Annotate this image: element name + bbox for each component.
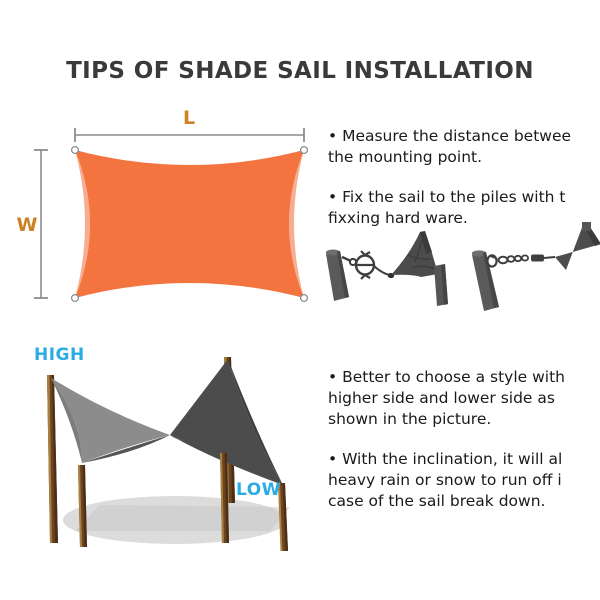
sail-top-tab bbox=[582, 222, 591, 231]
tips-list-lower: • Better to choose a style with higher s… bbox=[328, 367, 600, 567]
grommet-bottom-right bbox=[301, 295, 308, 302]
page-title: TIPS OF SHADE SAIL INSTALLATION bbox=[0, 58, 600, 84]
high-label: HIGH bbox=[34, 345, 85, 365]
turnbuckle-rod bbox=[544, 257, 555, 258]
post-chain-left bbox=[472, 250, 499, 311]
turnbuckle-assembly bbox=[326, 231, 448, 306]
hardware-svg bbox=[320, 222, 600, 327]
tip-line: case of the sail break down. bbox=[328, 491, 600, 512]
tip-line: • Better to choose a style with bbox=[328, 367, 600, 388]
tip-line: • Measure the distance betwee bbox=[328, 126, 600, 147]
tip-line: higher side and lower side as bbox=[328, 388, 600, 409]
sail-dimension-svg: L W bbox=[20, 108, 320, 323]
hardware-illustrations bbox=[320, 222, 600, 327]
turnbuckle-barrel bbox=[531, 255, 544, 262]
turnbuckle-ring bbox=[356, 251, 374, 279]
sail-corner-left bbox=[391, 231, 438, 277]
tip-inclination-runoff: • With the inclination, it will al heavy… bbox=[328, 449, 600, 512]
low-label: LOW bbox=[236, 480, 281, 500]
infographic-page: TIPS OF SHADE SAIL INSTALLATION L W bbox=[0, 0, 600, 600]
tip-line: heavy rain or snow to run off i bbox=[328, 470, 600, 491]
width-label: W bbox=[17, 214, 38, 236]
sail-light-surface bbox=[51, 378, 170, 463]
length-label: L bbox=[183, 107, 195, 129]
tension-cable bbox=[374, 266, 390, 275]
post-front-left bbox=[78, 465, 87, 547]
post-left bbox=[326, 250, 349, 302]
tip-measure-distance: • Measure the distance betwee the mounti… bbox=[328, 126, 600, 168]
sail-surface bbox=[75, 150, 304, 298]
tip-line: the mounting point. bbox=[328, 147, 600, 168]
length-dimension-line bbox=[75, 128, 304, 142]
tip-line: • With the inclination, it will al bbox=[328, 449, 600, 470]
tip-line: • Fix the sail to the piles with t bbox=[328, 187, 600, 208]
orange-shade-sail bbox=[75, 150, 304, 298]
post-back-left bbox=[47, 375, 58, 543]
chain-links bbox=[499, 255, 528, 263]
ground-shadow-plane bbox=[75, 505, 290, 531]
sail-dimension-diagram: L W bbox=[20, 108, 320, 323]
grommet-bottom-left bbox=[72, 295, 79, 302]
sail-corner-right bbox=[555, 222, 600, 270]
tip-choose-style: • Better to choose a style with higher s… bbox=[328, 367, 600, 430]
carabiner bbox=[487, 255, 496, 266]
post-right bbox=[434, 264, 448, 306]
tip-line: shown in the picture. bbox=[328, 409, 600, 430]
chain-assembly bbox=[472, 222, 600, 311]
inclination-svg: HIGH LOW bbox=[20, 335, 320, 580]
grommet-top-left bbox=[72, 147, 79, 154]
inclination-diagram: HIGH LOW bbox=[20, 335, 320, 580]
shade-sail-light bbox=[51, 378, 170, 463]
grommet-top-right bbox=[301, 147, 308, 154]
